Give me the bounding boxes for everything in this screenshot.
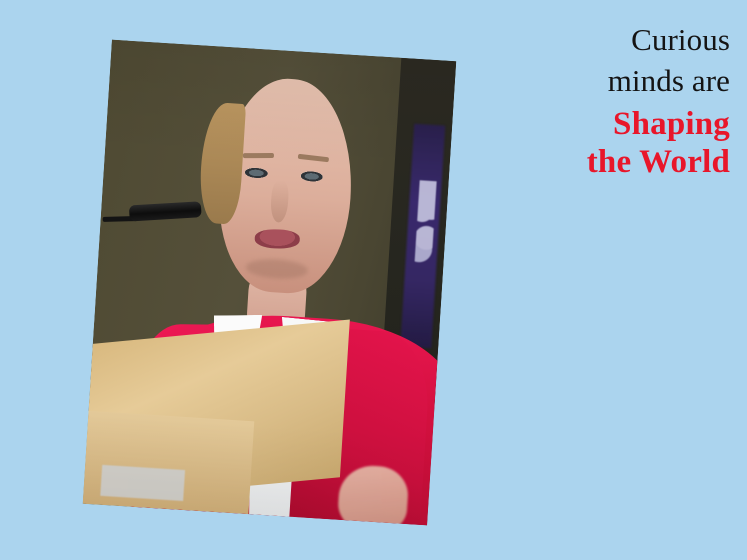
speaker-photo bbox=[83, 40, 457, 526]
hair-right-side bbox=[317, 100, 377, 242]
headline-block: Curious minds are Shaping the World bbox=[455, 24, 730, 180]
eyebrow-left bbox=[243, 153, 274, 158]
slide-canvas: Curious minds are Shaping the World bbox=[0, 0, 747, 560]
headline-line-4: the World bbox=[455, 146, 730, 180]
podium-nameplate bbox=[101, 465, 186, 500]
photo-content bbox=[83, 40, 457, 526]
headline-line-2: minds are bbox=[455, 65, 730, 97]
mouth bbox=[255, 229, 300, 249]
headline-line-1: Curious bbox=[455, 24, 730, 56]
headline-line-3: Shaping bbox=[455, 108, 730, 142]
